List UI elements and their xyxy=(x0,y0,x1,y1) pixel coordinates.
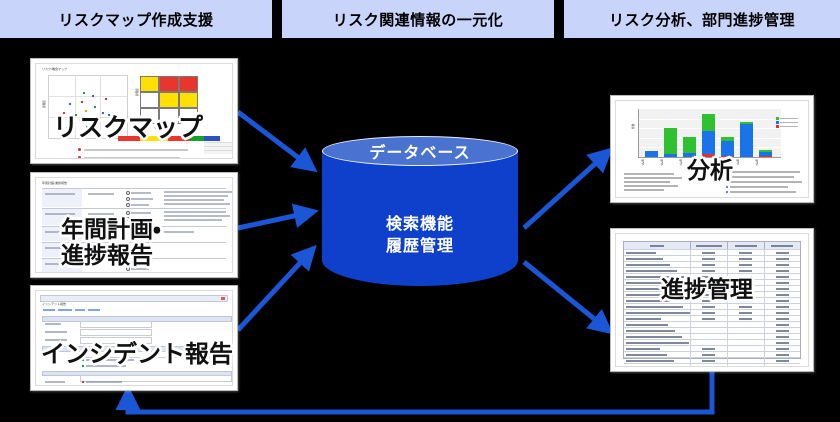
risk-map-paper: リスク・機会マップ xyxy=(35,63,233,159)
table-cell xyxy=(765,364,800,367)
analysis-bar-chart xyxy=(638,109,781,158)
matrix-y-axis-label: 影響度 xyxy=(135,88,139,96)
table-cell xyxy=(691,364,728,367)
table-header-cell xyxy=(728,242,765,249)
chart-bar-部門A xyxy=(645,151,658,157)
thumbnail-caption-incident: インシデント報告 xyxy=(41,342,233,367)
chart-bar-部門E xyxy=(721,137,734,157)
database-feature-history: 履歴管理 xyxy=(322,236,518,258)
close-icon[interactable] xyxy=(221,297,225,300)
thumbnail-caption-annual-plan-line1: 年間計画・ xyxy=(61,217,161,241)
database-body-label: 検索機能 履歴管理 xyxy=(322,214,518,257)
table-header-cell xyxy=(691,242,728,249)
arrow-plan-to-db xyxy=(238,212,312,228)
thumbnail-incident-report[interactable]: インシデント報告 インシデント報告 xyxy=(30,285,238,391)
annual-plan-title: 年間計画・進捗報告 xyxy=(42,181,67,185)
thumbnail-analysis[interactable]: 件数 部門A 部門B 部門C 部門D 部門E 部門F 部門G xyxy=(610,95,814,203)
table-cell xyxy=(728,364,765,367)
arrow-db-to-progress xyxy=(524,262,608,330)
header-banner-risk-map-support: リスクマップ作成支援 xyxy=(0,0,272,38)
scatter-y-axis-label: 影響度 xyxy=(42,100,46,108)
analysis-paper: 件数 部門A 部門B 部門C 部門D 部門E 部門F 部門G xyxy=(615,100,809,198)
incident-title: インシデント報告 xyxy=(42,302,66,306)
chart-bar-部門F xyxy=(740,122,753,157)
header-banner-label: リスクマップ作成支援 xyxy=(58,9,213,30)
thumbnail-caption-annual-plan-line2: 進捗報告 xyxy=(61,243,153,267)
diagram-canvas: リスクマップ作成支援 リスク関連情報の一元化 リスク分析、部門進捗管理 リスク・… xyxy=(0,0,840,422)
header-banner-analysis-progress: リスク分析、部門進捗管理 xyxy=(564,0,840,38)
database-cylinder[interactable]: データベース 検索機能 履歴管理 xyxy=(322,136,518,300)
arrow-riskmap-to-db xyxy=(238,112,312,168)
database-top-label: データベース xyxy=(322,136,518,166)
chart-bar-部門G xyxy=(759,150,772,157)
chart-bar-部門D xyxy=(702,114,715,157)
table-header-cell xyxy=(624,242,691,249)
thumbnail-risk-map[interactable]: リスク・機会マップ xyxy=(30,58,238,164)
incident-window-titlebar xyxy=(40,295,228,302)
header-banner-label: リスク関連情報の一元化 xyxy=(333,9,504,30)
arrow-db-to-analysis xyxy=(524,152,608,228)
header-banner-centralization: リスク関連情報の一元化 xyxy=(282,0,554,38)
risk-map-title: リスク・機会マップ xyxy=(42,67,67,71)
table-header-cell xyxy=(765,242,800,249)
thumbnail-annual-plan[interactable]: 年間計画・進捗報告 xyxy=(30,172,238,278)
table-row[interactable] xyxy=(624,363,800,367)
thumbnail-progress-table[interactable]: 進捗管理 xyxy=(610,228,814,372)
table-cell xyxy=(624,364,691,367)
thumbnail-caption-progress: 進捗管理 xyxy=(661,277,753,301)
chart-bar-部門C xyxy=(683,137,696,157)
thumbnail-caption-risk-map: リスクマップ xyxy=(53,115,203,141)
arrow-incident-to-db xyxy=(238,250,312,330)
thumbnail-caption-analysis: 分析 xyxy=(687,158,733,182)
database-feature-search: 検索機能 xyxy=(322,214,518,236)
chart-bar-部門B xyxy=(664,128,677,157)
header-banner-label: リスク分析、部門進捗管理 xyxy=(609,9,795,30)
chart-y-axis-label: 件数 xyxy=(631,124,635,129)
incident-paper: インシデント報告 xyxy=(35,290,233,386)
